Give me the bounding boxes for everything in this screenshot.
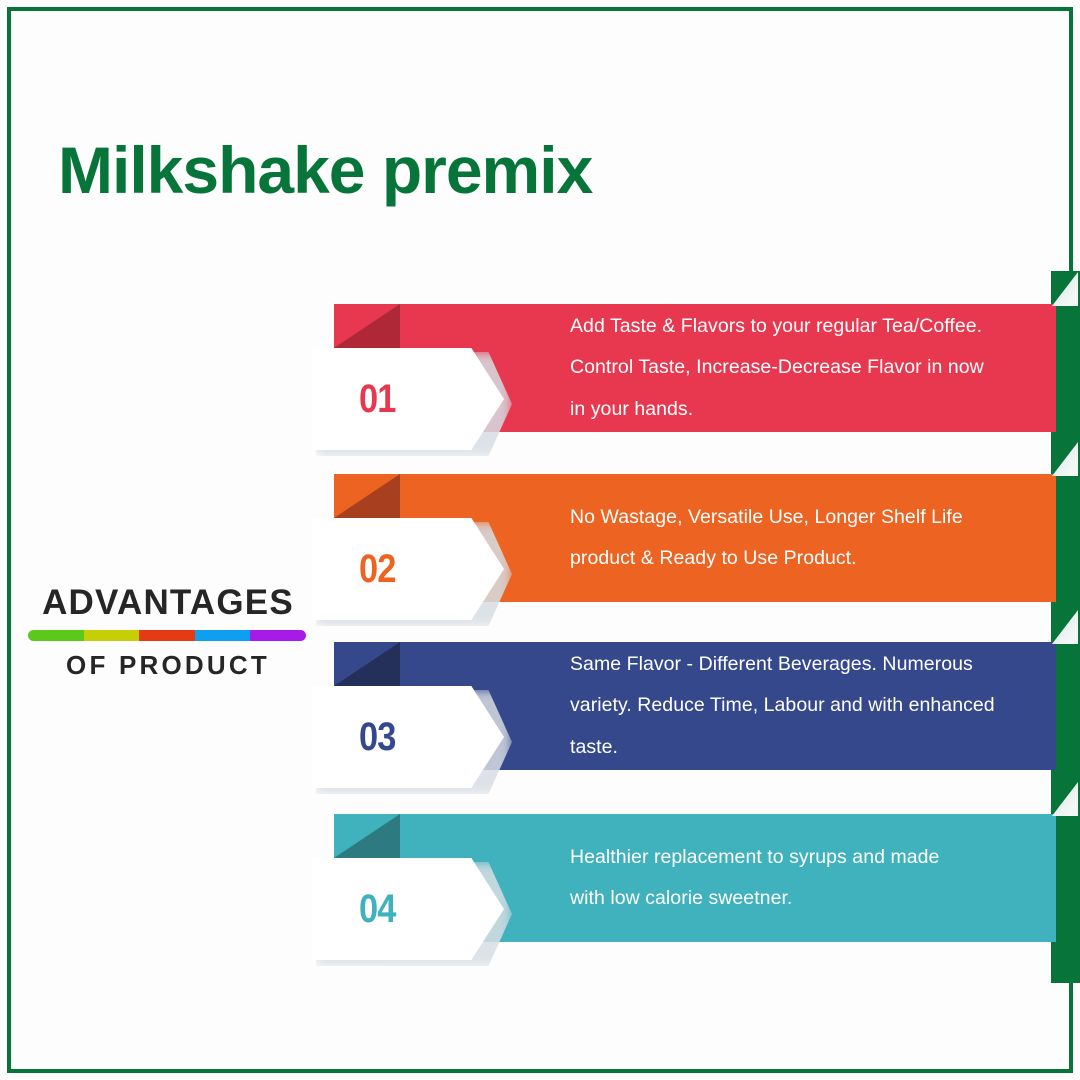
ribbon-copy-line: variety. Reduce Time, Labour and with en… xyxy=(570,685,1040,726)
ribbon-number: 04 xyxy=(359,887,396,932)
ribbon-copy-line: with low calorie sweetner. xyxy=(570,878,1040,919)
number-plate: 02 xyxy=(312,518,504,620)
ribbon-copy: Same Flavor - Different Beverages. Numer… xyxy=(570,642,1040,770)
advantage-ribbon[interactable]: Same Flavor - Different Beverages. Numer… xyxy=(312,642,1056,770)
ribbon-number: 02 xyxy=(359,547,396,592)
advantage-ribbon[interactable]: No Wastage, Versatile Use, Longer Shelf … xyxy=(312,474,1056,602)
advantage-ribbon[interactable]: Add Taste & Flavors to your regular Tea/… xyxy=(312,304,1056,432)
ribbon-copy-line: taste. xyxy=(570,727,1040,768)
ribbon-drop-shadow xyxy=(1052,442,1078,476)
ribbon-copy-line: Control Taste, Increase-Decrease Flavor … xyxy=(570,347,1040,388)
ribbon-copy-line: Add Taste & Flavors to your regular Tea/… xyxy=(570,306,1040,347)
number-plate: 03 xyxy=(312,686,504,788)
number-plate: 01 xyxy=(312,348,504,450)
ribbon-drop-shadow xyxy=(1052,610,1078,644)
ribbon-copy-line: Same Flavor - Different Beverages. Numer… xyxy=(570,644,1040,685)
ribbon-fold-corner xyxy=(334,814,400,858)
ribbon-drop-shadow xyxy=(1052,272,1078,306)
ribbon-copy: Healthier replacement to syrups and made… xyxy=(570,814,1040,942)
ribbon-copy-line: in your hands. xyxy=(570,389,1040,430)
ribbon-fold-corner xyxy=(334,304,400,348)
ribbon-copy: No Wastage, Versatile Use, Longer Shelf … xyxy=(570,474,1040,602)
advantage-ribbon[interactable]: Healthier replacement to syrups and made… xyxy=(312,814,1056,942)
ribbon-copy-line: Healthier replacement to syrups and made xyxy=(570,837,1040,878)
ribbon-number: 03 xyxy=(359,715,396,760)
ribbon-drop-shadow xyxy=(1052,782,1078,816)
poster-canvas: Milkshake premix ADVANTAGES OF PRODUCT A… xyxy=(0,0,1080,1080)
ribbon-copy-line: No Wastage, Versatile Use, Longer Shelf … xyxy=(570,497,1040,538)
advantages-ribbon-list: Add Taste & Flavors to your regular Tea/… xyxy=(0,0,1080,1080)
ribbon-copy: Add Taste & Flavors to your regular Tea/… xyxy=(570,304,1040,432)
ribbon-fold-corner xyxy=(334,474,400,518)
ribbon-fold-corner xyxy=(334,642,400,686)
ribbon-number: 01 xyxy=(359,377,396,422)
number-plate: 04 xyxy=(312,858,504,960)
ribbon-copy-line: product & Ready to Use Product. xyxy=(570,538,1040,579)
